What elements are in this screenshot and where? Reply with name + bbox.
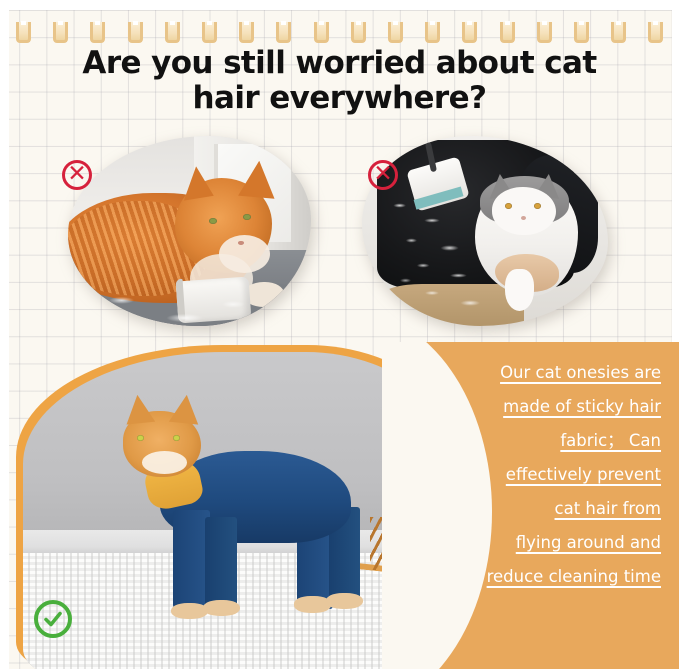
spiral-ring bbox=[500, 22, 515, 43]
benefit-copy-line: made of sticky hair bbox=[503, 397, 661, 416]
solution-cat-eye-right bbox=[173, 435, 180, 441]
solution-cat-paw bbox=[326, 593, 362, 610]
spiral-ring bbox=[202, 22, 217, 43]
page-edge-top bbox=[0, 0, 679, 10]
solution-cat-eye-left bbox=[137, 435, 144, 441]
spiral-ring bbox=[90, 22, 105, 43]
spiral-ring bbox=[462, 22, 477, 43]
infographic-page: Are you still worried about cat hair eve… bbox=[0, 0, 679, 669]
photo1-shed-hair bbox=[68, 269, 311, 326]
benefit-copy-line: Our cat onesies are bbox=[500, 363, 661, 382]
spiral-ring bbox=[351, 22, 366, 43]
problem-photo-2 bbox=[362, 136, 608, 326]
spiral-ring bbox=[53, 22, 68, 43]
photo2-shed-hair bbox=[382, 193, 530, 318]
solution-cat-paw bbox=[171, 603, 207, 620]
spiral-ring bbox=[537, 22, 552, 43]
photo1-cat-eye-left bbox=[209, 218, 217, 224]
cross-glyph: ✕ bbox=[67, 163, 86, 186]
spiral-ring bbox=[276, 22, 291, 43]
spiral-ring bbox=[239, 22, 254, 43]
spiral-ring bbox=[388, 22, 403, 43]
spiral-ring bbox=[611, 22, 626, 43]
spiral-ring bbox=[648, 22, 663, 43]
cross-icon: ✕ bbox=[62, 160, 92, 190]
photo2-cat-eye-right bbox=[534, 203, 541, 209]
benefit-copy-line: effectively prevent bbox=[506, 465, 661, 484]
spiral-ring bbox=[128, 22, 143, 43]
photo1-cat-nose bbox=[238, 241, 244, 245]
benefit-copy-line: flying around and bbox=[516, 533, 661, 552]
benefit-copy-line: cat hair from bbox=[555, 499, 661, 518]
problem-photo-1 bbox=[68, 136, 311, 326]
photo1-cat-eye-right bbox=[243, 214, 251, 220]
spiral-ring bbox=[165, 22, 180, 43]
solution-cat-muzzle bbox=[142, 451, 188, 474]
photo1-cat-muzzle bbox=[219, 235, 270, 273]
check-icon bbox=[34, 600, 72, 638]
solution-cat-leg-front-right bbox=[205, 517, 237, 609]
spiral-ring bbox=[574, 22, 589, 43]
benefit-copy-line: reduce cleaning time bbox=[487, 567, 661, 586]
cross-glyph: ✕ bbox=[373, 163, 392, 186]
spiral-binding bbox=[0, 22, 679, 44]
solution-cat-paw bbox=[203, 600, 239, 617]
spiral-ring bbox=[425, 22, 440, 43]
benefit-copy-line: fabric； Can bbox=[560, 431, 661, 450]
benefit-copy-panel: Our cat onesies aremade of sticky hairfa… bbox=[382, 342, 679, 669]
spiral-ring bbox=[314, 22, 329, 43]
spiral-ring bbox=[16, 22, 31, 43]
page-title: Are you still worried about cat hair eve… bbox=[0, 46, 679, 116]
benefit-copy-text: Our cat onesies aremade of sticky hairfa… bbox=[425, 356, 661, 594]
cross-icon: ✕ bbox=[368, 160, 398, 190]
